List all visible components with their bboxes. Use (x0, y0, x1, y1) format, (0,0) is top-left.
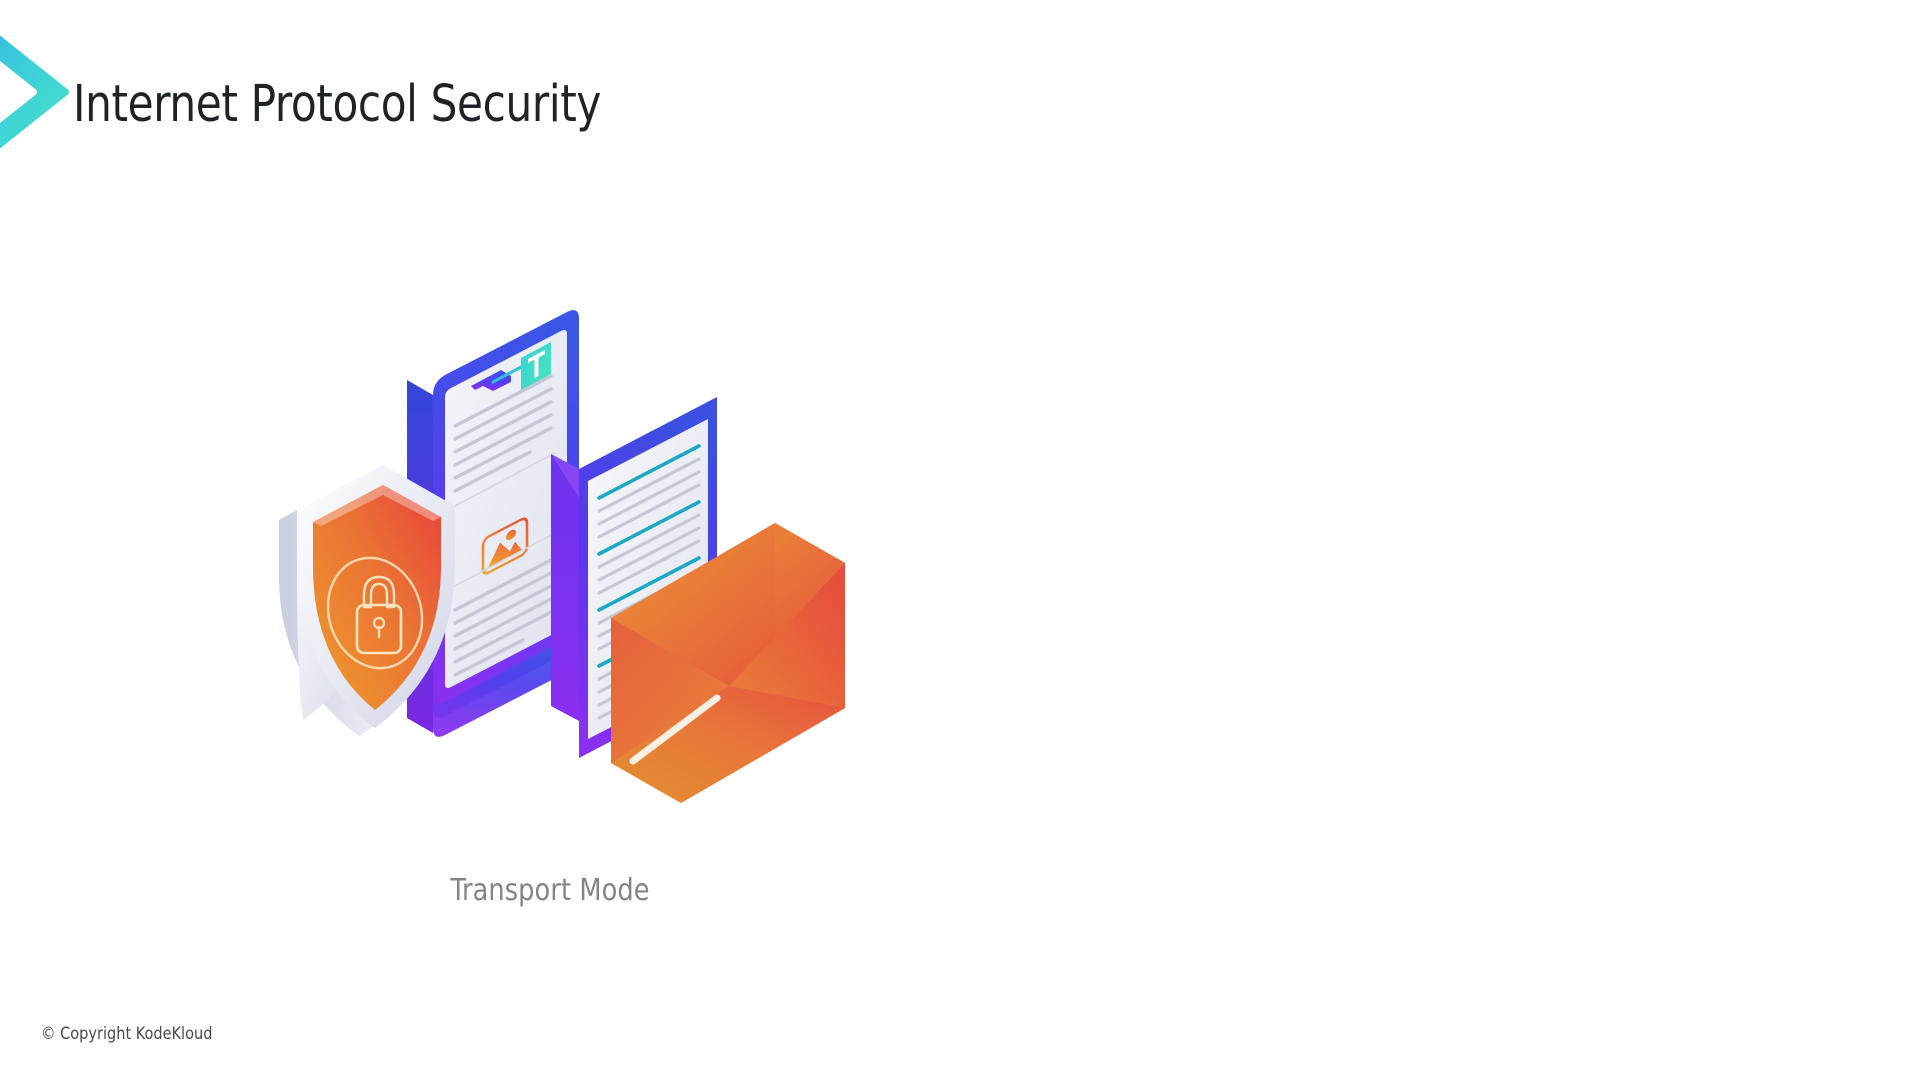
brand-chevron-icon (0, 22, 76, 162)
copyright-text: © Copyright KodeKloud (41, 1024, 212, 1044)
illustration-block: Transport Mode (255, 258, 845, 908)
page-title: Internet Protocol Security (73, 78, 601, 132)
illustration-caption: Transport Mode (270, 873, 831, 908)
ipsec-illustration (255, 258, 845, 818)
